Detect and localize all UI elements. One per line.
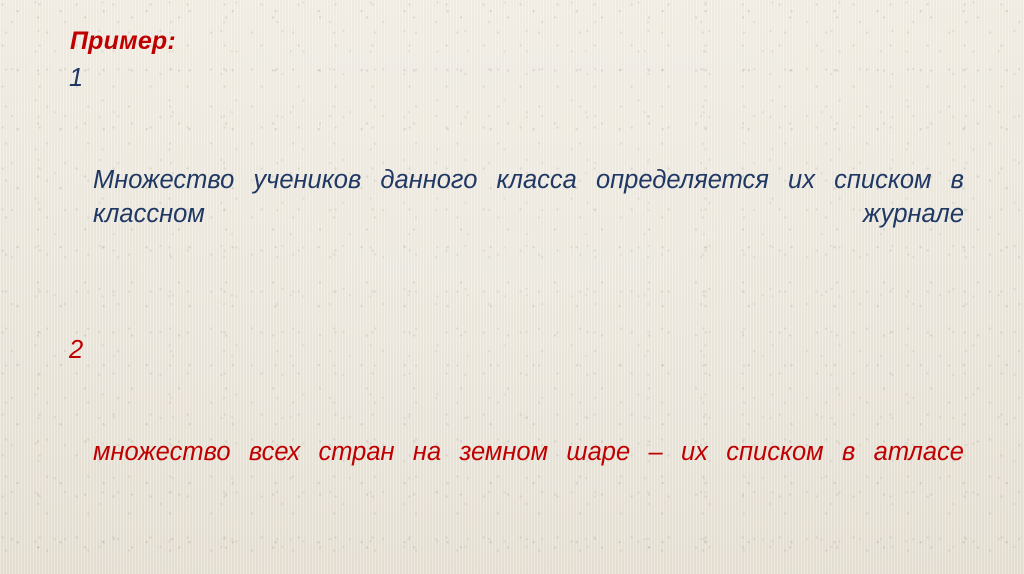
list-item: 2 множество всех стран на земном шаре – … <box>66 333 964 571</box>
slide-title: Пример: <box>70 26 964 56</box>
list-item: 1 Множество учеников данного класса опре… <box>66 61 964 333</box>
list-item-text: множество всех стран на земном шаре – их… <box>93 435 964 503</box>
presentation-slide: Пример: 1 Множество учеников данного кла… <box>0 0 1024 574</box>
list-item-number: 2 <box>69 333 83 367</box>
list-item-text: Множество учеников данного класса опреде… <box>93 163 964 265</box>
slide-content: Пример: 1 Множество учеников данного кла… <box>66 26 964 574</box>
list-item-number: 1 <box>69 61 83 95</box>
